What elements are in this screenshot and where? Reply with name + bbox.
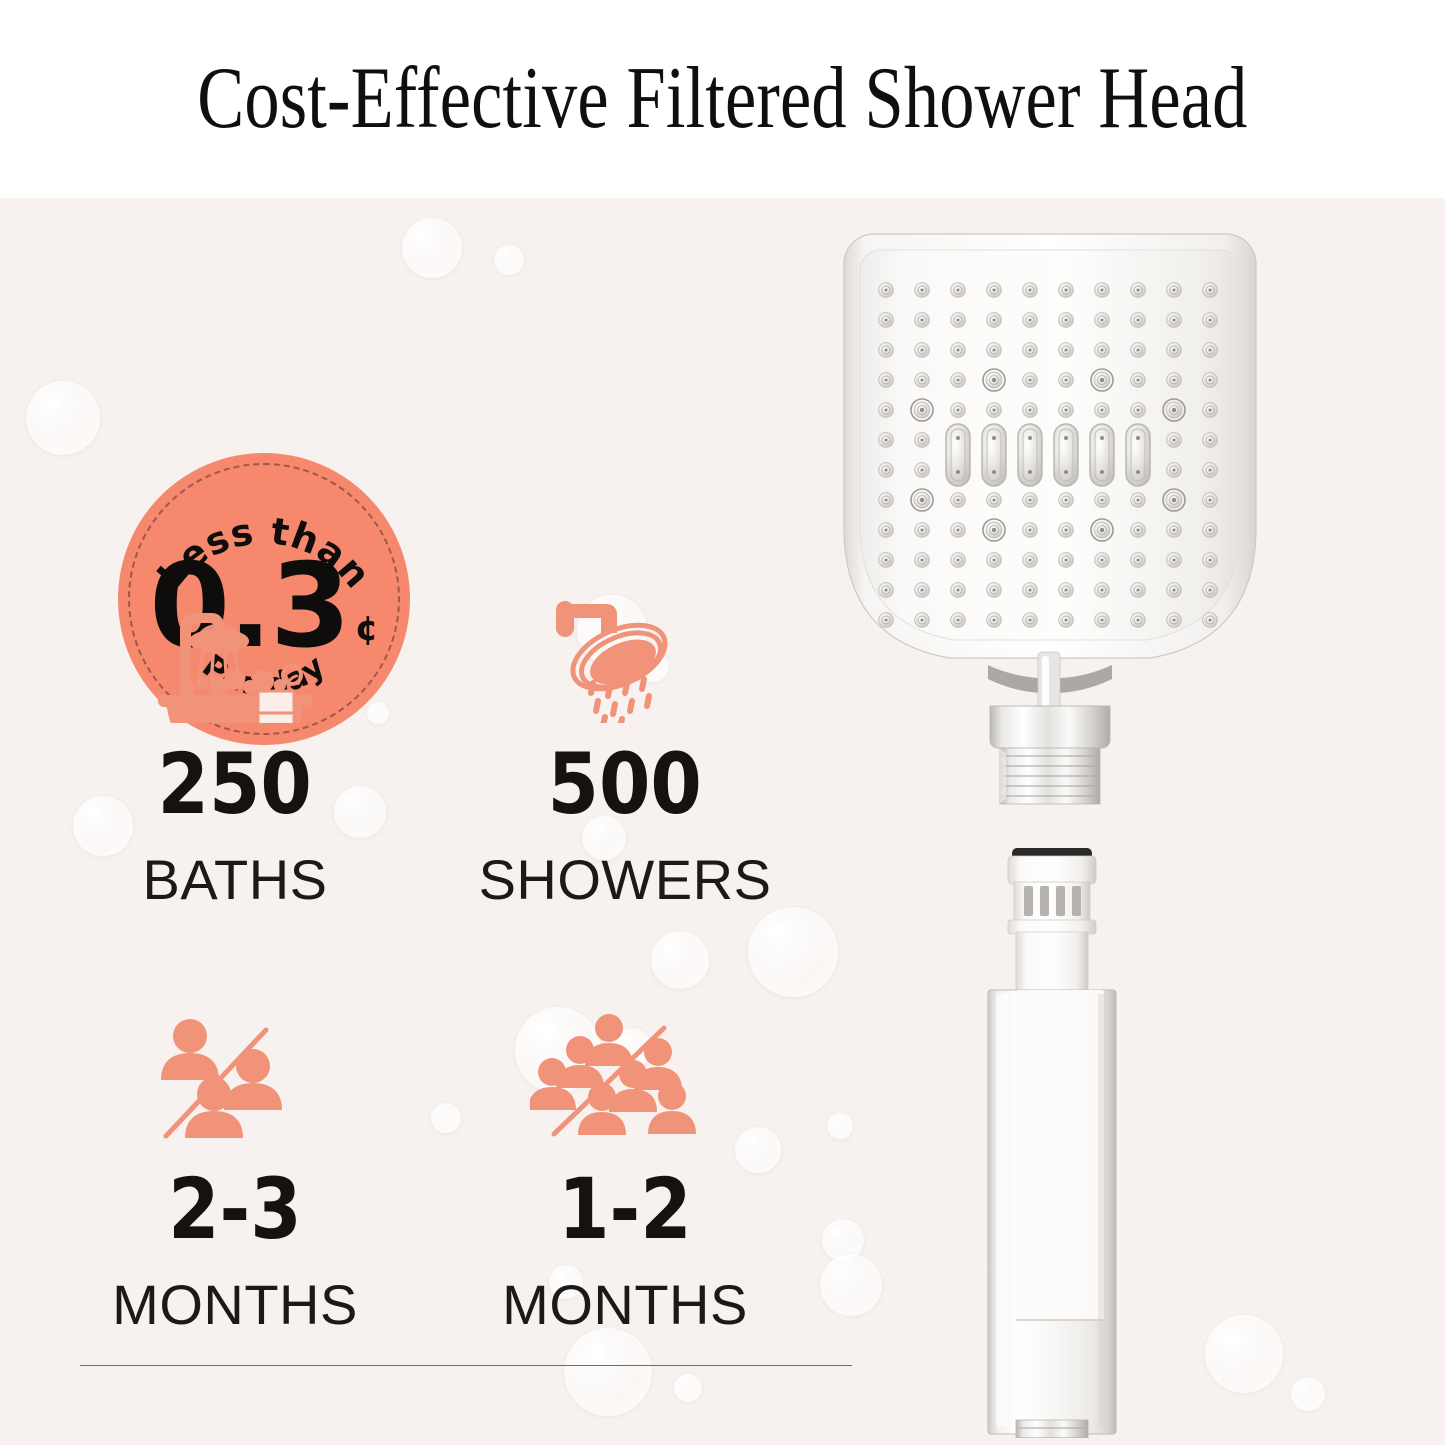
stat-months-2-3: 2-3 MONTHS [40, 1003, 430, 1333]
connector-collar [990, 706, 1110, 748]
stat-label-months-2-3: MONTHS [112, 1277, 358, 1333]
stat-label-showers: SHOWERS [479, 852, 772, 908]
product-image [830, 228, 1270, 1438]
group-of-people-icon [530, 1003, 720, 1153]
stats-row-top: 250 BATHS [40, 578, 820, 908]
content-panel: Less than Per day 0.3 ¢ [0, 198, 1445, 1445]
bottom-threaded-outlet [1016, 1420, 1088, 1438]
bubble [494, 245, 524, 275]
stat-value-showers: 500 [548, 742, 702, 826]
shower-head-icon [535, 578, 715, 728]
handle-barrel [988, 990, 1116, 1434]
bubble [26, 381, 100, 455]
stat-baths: 250 BATHS [40, 578, 430, 908]
bathtub-icon [140, 578, 330, 728]
stat-value-months-2-3: 2-3 [168, 1167, 302, 1251]
chrome-threaded-connector [1000, 748, 1100, 804]
bubble [564, 1328, 652, 1416]
one-to-two-people-icon [150, 1003, 320, 1153]
filter-cartridge [1008, 848, 1096, 992]
stat-value-baths: 250 [158, 742, 312, 826]
bubble [402, 218, 462, 278]
header-band: Cost-Effective Filtered Shower Head [0, 0, 1445, 198]
stats-grid: 250 BATHS [40, 578, 820, 1333]
stat-label-baths: BATHS [142, 852, 327, 908]
stat-showers: 500 SHOWERS [430, 578, 820, 908]
bubble [674, 1374, 702, 1402]
stat-months-1-2: 1-2 MONTHS [430, 1003, 820, 1333]
stat-label-months-1-2: MONTHS [502, 1277, 748, 1333]
stat-value-months-1-2: 1-2 [558, 1167, 692, 1251]
stats-row-bottom: 2-3 MONTHS [40, 1003, 820, 1333]
bubble [1291, 1377, 1325, 1411]
page-title: Cost-Effective Filtered Shower Head [197, 55, 1247, 143]
section-divider [80, 1365, 852, 1366]
infographic-page: Cost-Effective Filtered Shower Head Less… [0, 0, 1445, 1445]
